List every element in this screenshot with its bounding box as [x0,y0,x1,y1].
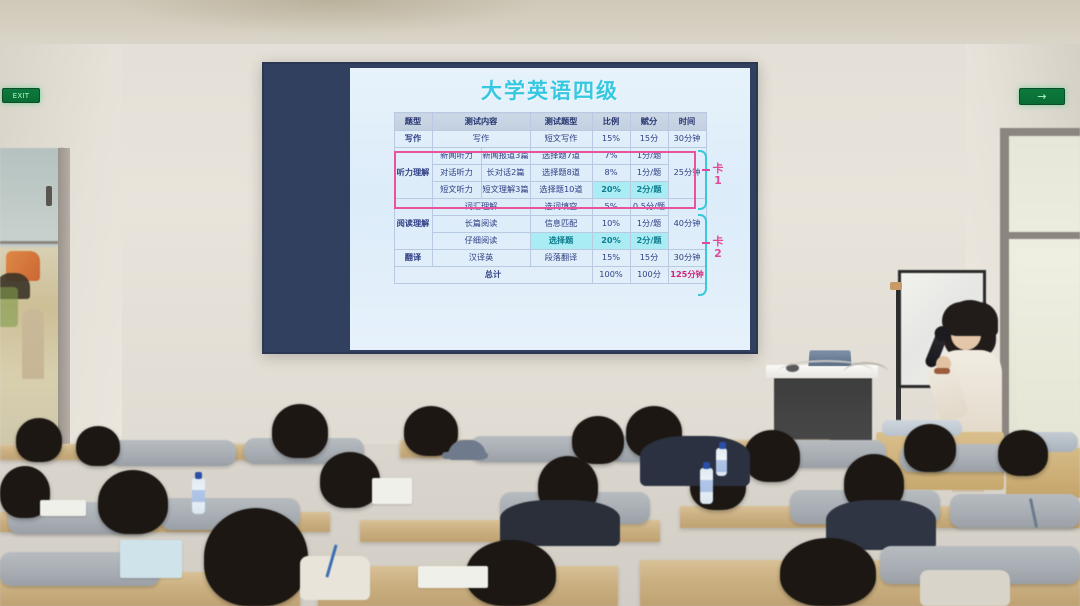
col-header-content: 测试内容 [432,113,530,131]
dash-card-1 [702,169,710,171]
table-row: 写作 写作 短文写作 15% 15分 30分钟 [394,131,706,148]
outdoor-view [0,247,60,444]
slide-content: 大学英语四级 题型 测试内容 测试题型 比例 赋分 时间 写作 [350,68,750,350]
cell-score: 1分/题 [630,165,668,182]
audience-head [998,430,1048,476]
slide-title: 大学英语四级 [350,75,750,105]
cell-score: 0.5分/题 [630,199,668,216]
cell-ratio: 20% [592,182,630,199]
brace-card-1 [698,150,707,210]
cell-score: 2分/题 [630,182,668,199]
right-door[interactable] [1000,128,1080,444]
annotation-card-2-line1: 卡 [710,236,726,248]
cell-ratio: 15% [592,131,630,148]
outdoor-person [22,309,44,379]
cell-score: 1分/题 [630,216,668,233]
tote-bag [920,570,1010,606]
annotation-card-2-line2: 2 [710,248,726,260]
cell-qtype: 段落翻译 [530,250,592,267]
exit-sign-left: EXIT [2,88,40,103]
audience-head [320,452,380,508]
projection-screen: 大学英语四级 题型 测试内容 测试题型 比例 赋分 时间 写作 [262,62,758,354]
audience-head [744,430,800,482]
col-header-ratio: 比例 [592,113,630,131]
annotation-card-1-line2: 1 [710,175,726,187]
water-bottle [716,448,727,476]
brace-card-2 [698,214,707,296]
col-header-score: 赋分 [630,113,668,131]
cell-total-ratio: 100% [592,267,630,284]
tote-bag [300,556,370,600]
door-handle[interactable] [46,186,52,206]
table-row: 阅读理解 词汇理解 选词填空 5% 0.5分/题 40分钟 [394,199,706,216]
annotation-card-1-line1: 卡 [710,163,726,175]
cell-ratio: 10% [592,216,630,233]
col-header-time: 时间 [668,113,706,131]
cell-qtype: 选择题8道 [530,165,592,182]
cell-section: 写作 [394,131,432,148]
cell-section: 阅读理解 [394,199,432,250]
cell-content: 仔细阅读 [432,233,530,250]
cell-ratio: 20% [592,233,630,250]
cell-qtype: 选择题7道 [530,148,592,165]
table-row: 仔细阅读 选择题 20% 2分/题 [394,233,706,250]
cell-score: 1分/题 [630,148,668,165]
exit-arrow-icon: → [1037,91,1047,102]
paper-sheet [418,566,488,588]
cell-content: 词汇理解 [432,199,530,216]
cell-score: 15分 [630,131,668,148]
cell-content: 长篇阅读 [432,216,530,233]
cell-qtype: 选择题10道 [530,182,592,199]
water-bottle [700,468,713,504]
audience-head [16,418,62,462]
presenter-wristband [934,368,950,374]
water-bottle [192,478,205,514]
cell-total-label: 总计 [394,267,592,284]
cell-qtype: 选词填空 [530,199,592,216]
audience-head-foreground [204,508,308,606]
cell-time: 30分钟 [668,131,706,148]
right-door-glass [1017,248,1080,438]
audience-head [272,404,328,458]
paper-sheet [372,478,412,504]
left-glass-door[interactable] [0,148,64,444]
cell-ratio: 5% [592,199,630,216]
paper-sheet [40,500,86,516]
cell-ratio: 8% [592,165,630,182]
col-header-qtype: 测试题型 [530,113,592,131]
annotation-card-2: 卡 2 [710,236,726,259]
lecture-hall-scene: EXIT → 大学英语四级 题型 测试内容 [0,0,1080,606]
cell-content-a: 新闻听力 [432,148,481,165]
table-total-row: 总计 100% 100分 125分钟 [394,267,706,284]
cell-qtype: 短文写作 [530,131,592,148]
exit-sign-right: → [1019,88,1065,105]
dash-card-2 [702,242,710,244]
table-row: 对话听力 长对话2篇 选择题8道 8% 1分/题 [394,165,706,182]
audience-shoulders [500,500,620,546]
cell-qtype: 信息匹配 [530,216,592,233]
cell-content: 写作 [432,131,530,148]
cell-section: 翻译 [394,250,432,267]
whiteboard-clip [890,282,902,290]
cell-content-b: 短文理解3篇 [481,182,530,199]
seat-mid-5 [950,494,1080,528]
cell-ratio: 7% [592,148,630,165]
cell-content-a: 短文听力 [432,182,481,199]
cell-content: 汉译英 [432,250,530,267]
table-header-row: 题型 测试内容 测试题型 比例 赋分 时间 [394,113,706,131]
audience-head [98,470,168,534]
cell-qtype: 选择题 [530,233,592,250]
door-frame-left [58,148,70,444]
seat-back-1 [108,440,236,466]
table-row: 长篇阅读 信息匹配 10% 1分/题 [394,216,706,233]
cell-section: 听力理解 [394,148,432,199]
table-row: 短文听力 短文理解3篇 选择题10道 20% 2分/题 [394,182,706,199]
baseball-cap [448,440,486,460]
audience-head [76,426,120,466]
notebook [120,540,182,578]
audience-head-foreground [780,538,876,606]
cell-content-b: 长对话2篇 [481,165,530,182]
cet4-table: 题型 测试内容 测试题型 比例 赋分 时间 写作 写作 短文写作 15% [394,112,707,284]
cell-content-b: 新闻报道3篇 [481,148,530,165]
col-header-section: 题型 [394,113,432,131]
audience-shoulders [640,436,750,486]
exit-sign-left-label: EXIT [13,92,30,100]
annotation-card-1: 卡 1 [710,163,726,186]
table-row: 翻译 汉译英 段落翻译 15% 15分 30分钟 [394,250,706,267]
cell-content-a: 对话听力 [432,165,481,182]
outdoor-foliage [0,287,18,327]
table-row: 听力理解 新闻听力 新闻报道3篇 选择题7道 7% 1分/题 25分钟 [394,148,706,165]
cell-total-score: 100分 [630,267,668,284]
cell-ratio: 15% [592,250,630,267]
audience-head [572,416,624,464]
audience-head [904,424,956,472]
cell-score: 2分/题 [630,233,668,250]
cell-score: 15分 [630,250,668,267]
